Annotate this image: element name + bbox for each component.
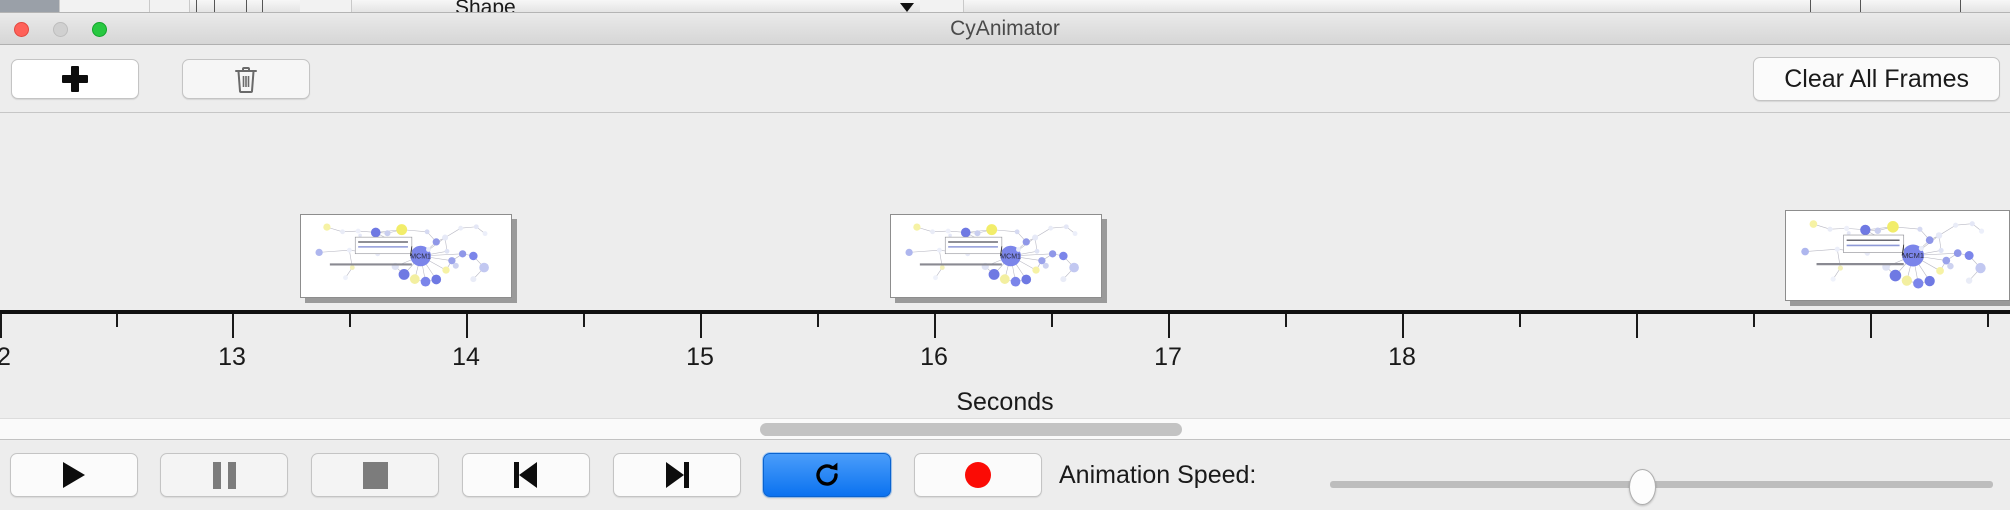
axis-tick-major xyxy=(700,314,702,338)
axis-tick-minor xyxy=(1987,314,1989,327)
axis-tick-label: 13 xyxy=(218,343,246,372)
axis-tick-major xyxy=(1870,314,1872,338)
timeline-frame-thumbnail[interactable]: MCM1 xyxy=(300,214,512,298)
animation-speed-slider[interactable] xyxy=(1330,469,1993,505)
axis-tick-minor xyxy=(817,314,819,327)
axis-line xyxy=(0,310,2010,314)
axis-tick-major xyxy=(0,314,2,338)
bg-caret-icon xyxy=(900,3,914,12)
axis-tick-label: 18 xyxy=(1388,343,1416,372)
stop-icon xyxy=(363,462,388,489)
next-frame-button[interactable] xyxy=(613,453,741,497)
frame-plate: MCM1 xyxy=(300,214,512,298)
axis-tick-major xyxy=(1402,314,1404,338)
timeline-frame-thumbnail[interactable]: MCM1 xyxy=(1785,210,2010,301)
record-icon xyxy=(965,462,991,488)
loop-icon xyxy=(812,460,842,490)
axis-tick-label: 14 xyxy=(452,343,480,372)
bg-block xyxy=(920,0,964,13)
plus-icon xyxy=(62,66,88,92)
delete-frame-button[interactable] xyxy=(182,59,310,99)
slider-track xyxy=(1330,481,1993,488)
title-bar: CyAnimator xyxy=(0,13,2010,45)
svg-text:MCM1: MCM1 xyxy=(410,254,431,261)
loop-button[interactable] xyxy=(763,453,891,497)
window-title: CyAnimator xyxy=(0,13,2010,45)
timeline-frame-thumbnail[interactable]: MCM1 xyxy=(890,214,1102,298)
play-icon xyxy=(63,462,85,488)
bg-block xyxy=(300,0,352,13)
svg-text:MCM1: MCM1 xyxy=(1902,251,1924,260)
horizontal-scrollbar[interactable] xyxy=(0,418,2010,440)
bg-divider xyxy=(1860,0,1861,13)
network-graph: MCM1 xyxy=(301,215,511,297)
toolbar: Clear All Frames xyxy=(0,45,2010,113)
network-graph: MCM1 xyxy=(891,215,1101,297)
axis-tick-major xyxy=(232,314,234,338)
play-button[interactable] xyxy=(10,453,138,497)
axis-tick-major xyxy=(1636,314,1638,338)
timeline-canvas[interactable]: MCM1MCM1MCM1 xyxy=(0,113,2010,310)
axis-tick-label: 16 xyxy=(920,343,948,372)
skip-forward-icon xyxy=(663,461,691,489)
axis-tick-minor xyxy=(116,314,118,327)
axis-tick-major xyxy=(934,314,936,338)
add-frame-button[interactable] xyxy=(11,59,139,99)
axis-tick-minor xyxy=(349,314,351,327)
bg-block xyxy=(150,0,190,13)
network-graph: MCM1 xyxy=(1786,211,2009,300)
bg-divider xyxy=(246,0,247,13)
background-window-strip: Shape xyxy=(0,0,2010,13)
stop-button[interactable] xyxy=(311,453,439,497)
slider-thumb[interactable] xyxy=(1629,469,1656,505)
bg-divider xyxy=(1960,0,1961,13)
frame-plate: MCM1 xyxy=(890,214,1102,298)
bg-block xyxy=(0,0,60,13)
bg-divider xyxy=(196,0,197,13)
axis-tick-major xyxy=(1168,314,1170,338)
clear-all-frames-button[interactable]: Clear All Frames xyxy=(1753,57,2000,101)
axis-tick-minor xyxy=(1051,314,1053,327)
previous-frame-button[interactable] xyxy=(462,453,590,497)
frame-plate: MCM1 xyxy=(1785,210,2010,301)
timeline-axis: 2131415161718 Seconds xyxy=(0,310,2010,420)
axis-tick-minor xyxy=(1519,314,1521,327)
bg-shape-label: Shape xyxy=(455,0,516,13)
animation-speed-label: Animation Speed: xyxy=(1059,441,1256,510)
playback-control-bar: Animation Speed: xyxy=(0,441,2010,510)
record-button[interactable] xyxy=(914,453,1042,497)
pause-button[interactable] xyxy=(160,453,288,497)
axis-tick-minor xyxy=(1753,314,1755,327)
bg-divider xyxy=(214,0,215,13)
axis-tick-minor xyxy=(583,314,585,327)
axis-title: Seconds xyxy=(0,388,2010,417)
bg-block xyxy=(60,0,150,13)
axis-tick-label: 15 xyxy=(686,343,714,372)
axis-tick-label: 2 xyxy=(0,343,11,372)
trash-icon xyxy=(234,66,258,93)
bg-divider xyxy=(1810,0,1811,13)
skip-back-icon xyxy=(512,461,540,489)
scrollbar-thumb[interactable] xyxy=(760,423,1182,436)
axis-tick-label: 17 xyxy=(1154,343,1182,372)
axis-tick-minor xyxy=(1285,314,1287,327)
svg-text:MCM1: MCM1 xyxy=(1000,254,1021,261)
pause-icon xyxy=(213,462,236,489)
bg-divider xyxy=(262,0,263,13)
axis-tick-major xyxy=(466,314,468,338)
